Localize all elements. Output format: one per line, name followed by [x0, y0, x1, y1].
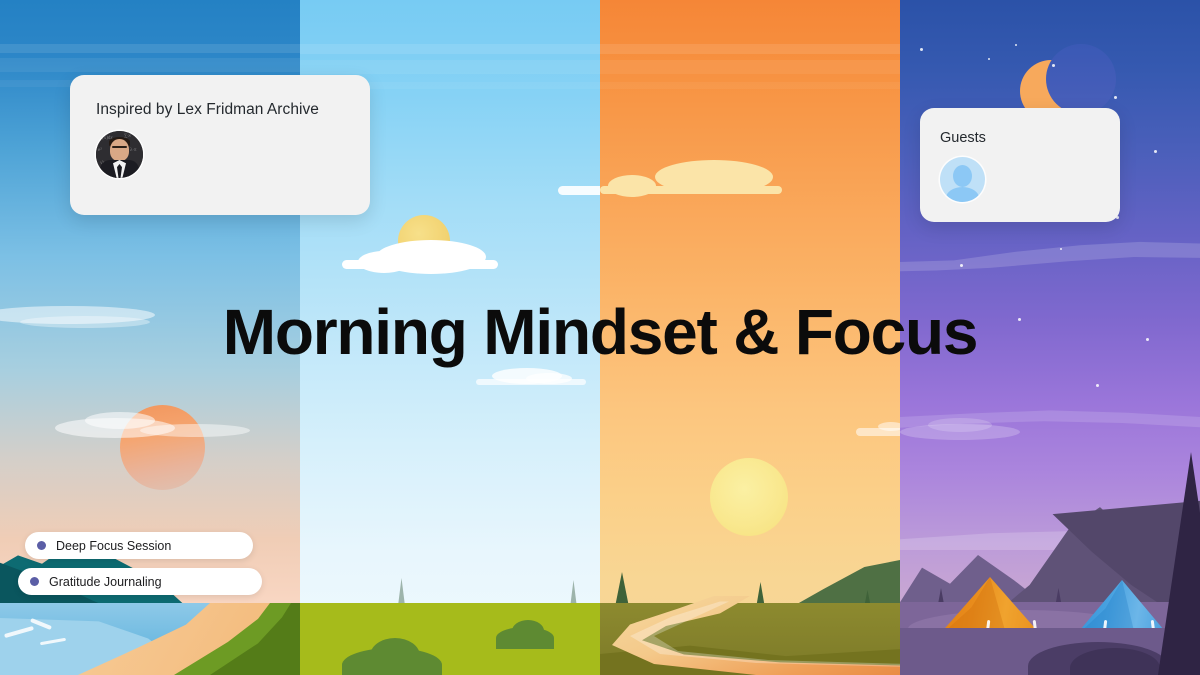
sun-icon — [710, 458, 788, 536]
chip-gratitude-journaling[interactable]: Gratitude Journaling — [18, 568, 262, 595]
bush-icon — [512, 620, 544, 642]
inspired-by-card[interactable]: Inspired by Lex Fridman Archive ∫f(x)dx … — [70, 75, 370, 215]
person-body-icon — [946, 187, 979, 202]
avatar[interactable] — [940, 157, 985, 202]
chip-label: Gratitude Journaling — [49, 575, 162, 589]
star-icon — [1052, 64, 1055, 67]
star-icon — [1114, 96, 1117, 99]
dusk-haze-band-2 — [600, 60, 900, 74]
dusk-haze-band-3 — [600, 82, 900, 89]
cloud-icon — [140, 424, 250, 437]
dusk-haze-band-1 — [600, 44, 900, 54]
chip-label: Deep Focus Session — [56, 539, 171, 553]
star-icon — [1154, 150, 1157, 153]
page-title: Morning Mindset & Focus — [0, 297, 1200, 369]
dawn-haze-band-1 — [0, 44, 300, 53]
chip-deep-focus-session[interactable]: Deep Focus Session — [25, 532, 253, 559]
cloud-icon — [878, 422, 900, 431]
star-icon — [1015, 44, 1017, 46]
day-haze-band-2 — [300, 60, 600, 74]
avatar-brow — [112, 146, 127, 148]
star-icon — [1096, 384, 1099, 387]
inspired-by-label: Inspired by Lex Fridman Archive — [96, 101, 370, 119]
guests-card[interactable]: Guests — [920, 108, 1120, 222]
cloud-icon — [600, 186, 782, 194]
avatar-face — [110, 139, 129, 161]
avatar[interactable]: ∫f(x)dx ∑∞ e² λ⋅π √n ∂x — [96, 131, 143, 178]
person-head-icon — [953, 165, 972, 187]
cloud-icon — [85, 412, 155, 429]
cloud-icon — [558, 186, 600, 195]
day-haze-band-1 — [300, 44, 600, 54]
cloud-icon — [928, 418, 992, 432]
star-icon — [988, 58, 990, 60]
guests-label: Guests — [940, 130, 1120, 146]
crescent-moon-icon — [1046, 44, 1116, 114]
status-dot-icon — [37, 541, 46, 550]
star-icon — [920, 48, 923, 51]
bush-icon — [370, 638, 420, 674]
cloud-icon — [342, 260, 498, 269]
status-dot-icon — [30, 577, 39, 586]
cloud-icon — [476, 379, 586, 385]
dawn-haze-band-2 — [0, 58, 300, 72]
poster-canvas: Morning Mindset & Focus Inspired by Lex … — [0, 0, 1200, 675]
